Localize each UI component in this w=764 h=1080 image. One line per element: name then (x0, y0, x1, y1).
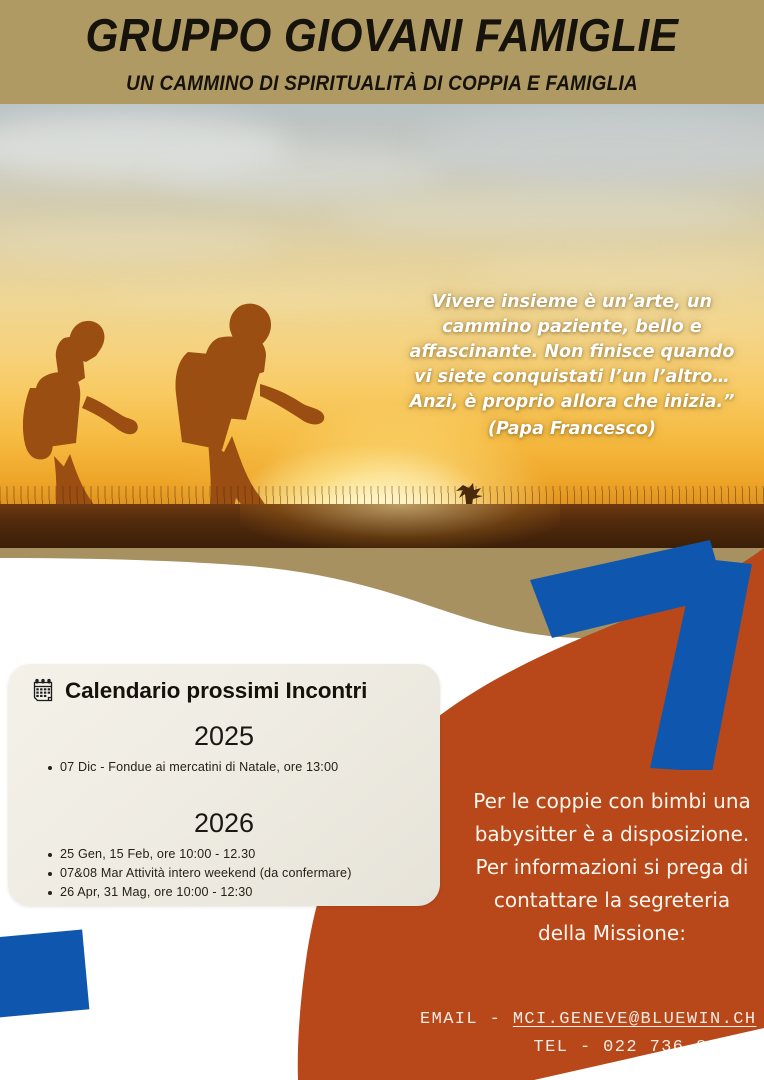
list-item: 25 Gen, 15 Feb, ore 10:00 - 12.30 (60, 845, 492, 864)
hero-quote: Vivere insieme è un’arte, un cammino paz… (398, 290, 746, 442)
blue-chevron-shape (500, 540, 764, 770)
cloud (150, 146, 450, 198)
quote-author: (Papa Francesco) (398, 417, 746, 442)
calendar-title: Calendario prossimi Incontri (65, 678, 367, 704)
calendar-events-2025: 07 Dic - Fondue ai mercatini di Natale, … (8, 758, 506, 777)
poster-root: Vivere insieme è un’arte, un cammino paz… (0, 0, 764, 1080)
calendar-icon (30, 678, 56, 704)
calendar-year-2026: 2026 (8, 808, 440, 839)
page-subtitle: UN CAMMINO DI SPIRITUALITÀ DI COPPIA E F… (38, 72, 726, 96)
calendar-year-2025: 2025 (8, 721, 440, 752)
page-title: GRUPPO GIOVANI FAMIGLIE (31, 8, 734, 62)
calendar-header: Calendario prossimi Incontri (30, 678, 367, 704)
babysitter-info-text: Per le coppie con bimbi una babysitter è… (470, 785, 754, 950)
calendar-events-2026: 25 Gen, 15 Feb, ore 10:00 - 12.30 07&08 … (8, 845, 506, 902)
blue-square-shape (0, 930, 89, 1021)
cloud (470, 254, 764, 288)
calendar-card: Calendario prossimi Incontri 2025 07 Dic… (8, 664, 440, 906)
cloud (330, 190, 750, 236)
header-band: GRUPPO GIOVANI FAMIGLIE UN CAMMINO DI SP… (0, 0, 764, 104)
hero-photo: Vivere insieme è un’arte, un cammino paz… (0, 104, 764, 548)
quote-text: Vivere insieme è un’arte, un cammino paz… (410, 292, 735, 412)
list-item: 26 Apr, 31 Mag, ore 10:00 - 12:30 (60, 883, 492, 902)
corner-wedge-shape (494, 1010, 764, 1080)
list-item: 07 Dic - Fondue ai mercatini di Natale, … (60, 758, 492, 777)
list-item: 07&08 Mar Attività intero weekend (da co… (60, 864, 492, 883)
